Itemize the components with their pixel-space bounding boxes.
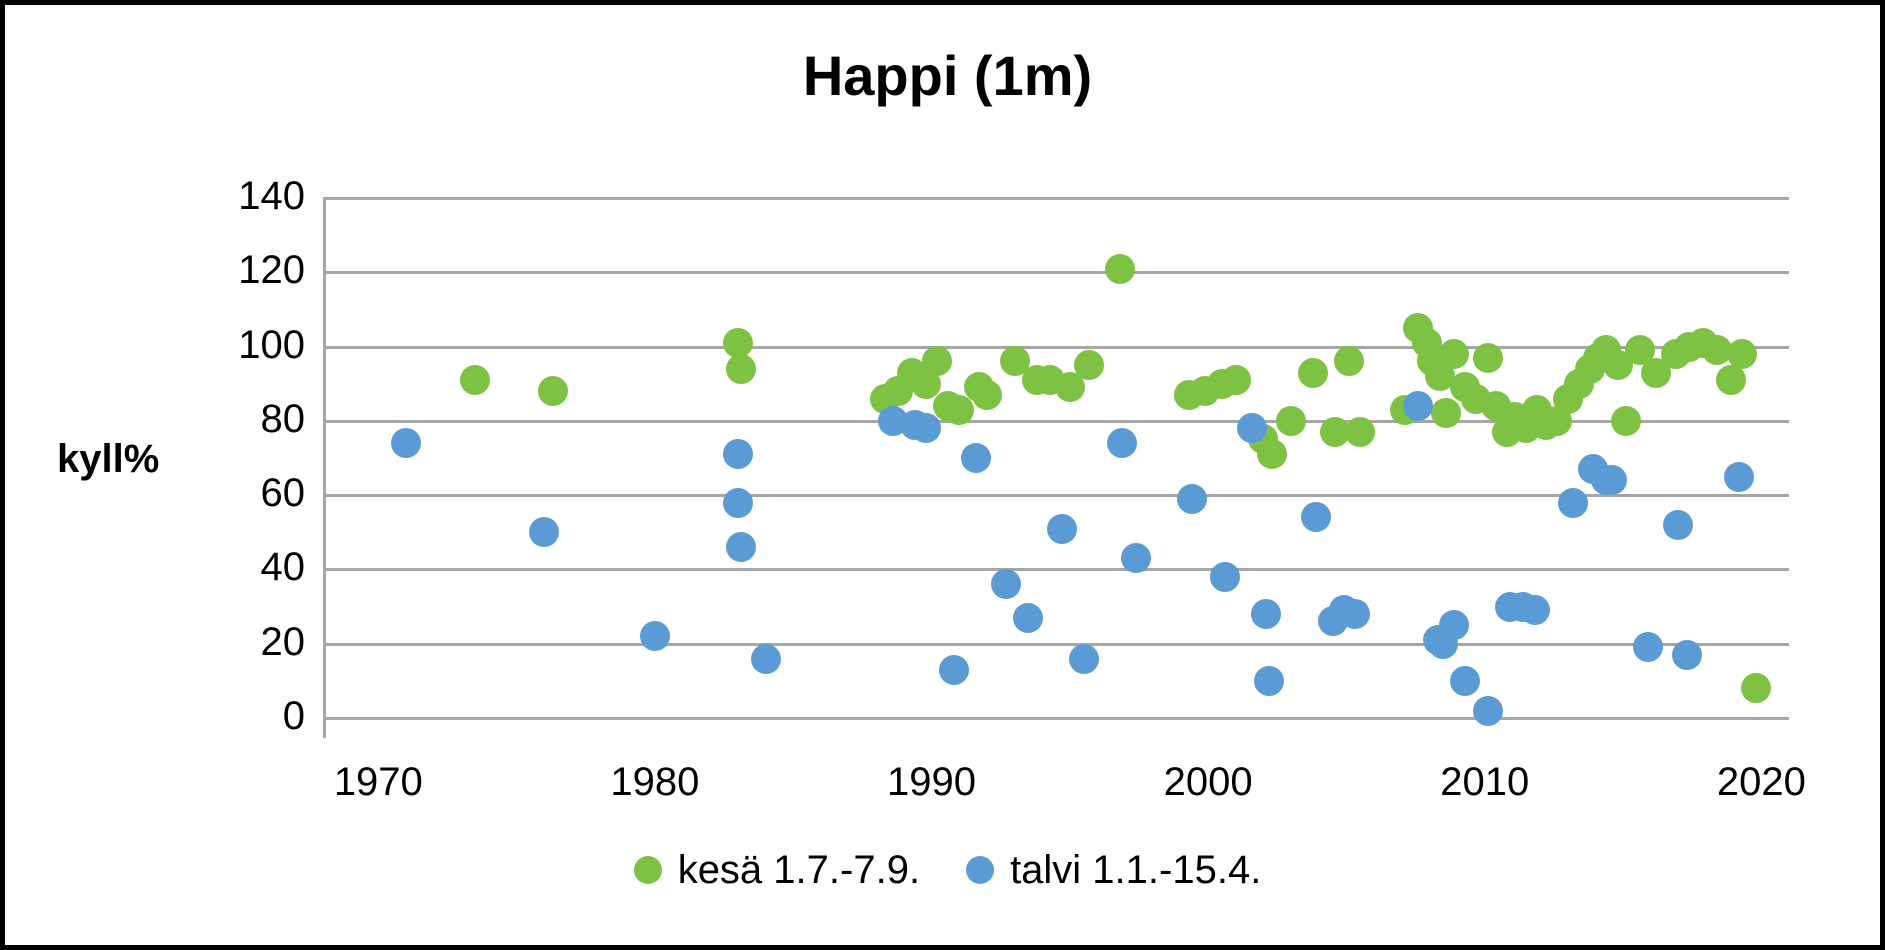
legend-item[interactable]: kesä 1.7.-7.9. [634, 850, 920, 890]
chart-frame: Happi (1m) kyll% 140120100806040200 1970… [0, 0, 1885, 950]
x-axis-tick-labels: 197019801990200020102020 [5, 5, 1885, 950]
x-axis-tick-label: 2000 [1108, 760, 1308, 805]
legend-item[interactable]: talvi 1.1.-15.4. [966, 850, 1261, 890]
x-axis-tick-label: 1970 [278, 760, 478, 805]
x-axis-tick-label: 1980 [555, 760, 755, 805]
legend-label: kesä 1.7.-7.9. [678, 850, 920, 890]
x-axis-tick-label: 2020 [1661, 760, 1861, 805]
legend-marker-icon [634, 856, 662, 884]
legend-label: talvi 1.1.-15.4. [1010, 850, 1261, 890]
legend-marker-icon [966, 856, 994, 884]
x-axis-tick-label: 2010 [1385, 760, 1585, 805]
chart-legend: kesä 1.7.-7.9.talvi 1.1.-15.4. [5, 850, 1885, 890]
x-axis-tick-label: 1990 [832, 760, 1032, 805]
